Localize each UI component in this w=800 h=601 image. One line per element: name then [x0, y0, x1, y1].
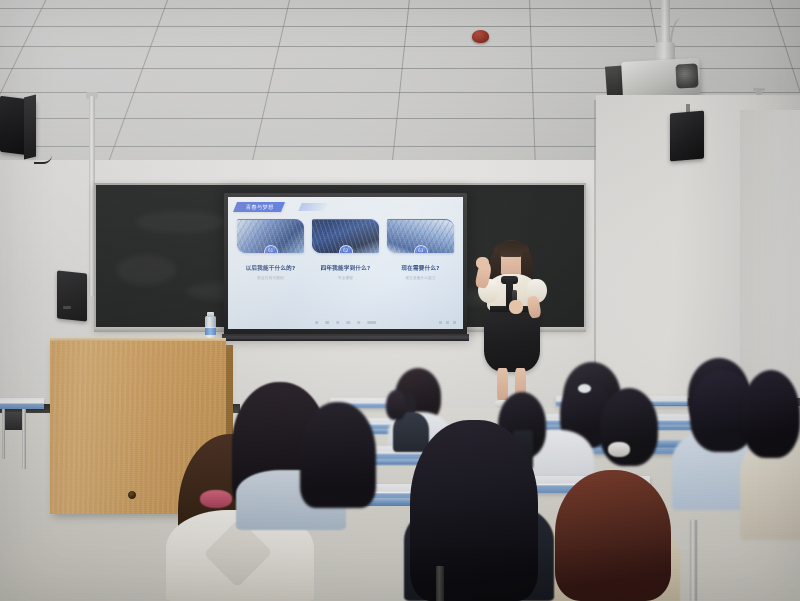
slide-card[interactable]: 03 现在需要什么? 现在准备什么能力 [387, 219, 454, 281]
card-subtitle-3: 现在准备什么能力 [387, 276, 454, 281]
side-desk-leg-1 [22, 409, 26, 469]
toolbar-icon-5[interactable] [357, 321, 361, 325]
wall-speaker-right [670, 111, 704, 162]
student-hair-scrunchie-pink [200, 490, 232, 508]
toolbar-right-icon-3[interactable] [453, 321, 456, 325]
projector-pole [661, 0, 670, 46]
bottle-label [205, 328, 216, 335]
card-subtitle-1: 职业方向与规划 [237, 276, 304, 281]
student-center-right-hair2 [410, 420, 538, 601]
presenter-hand-left [476, 257, 489, 269]
toolbar-right-icon-2[interactable] [446, 321, 449, 325]
side-desk-leg-2 [2, 409, 5, 459]
student-far-right-hair [742, 370, 800, 458]
speaker-cable [34, 146, 52, 164]
bottle-cap [207, 312, 214, 317]
fire-detector-icon [472, 30, 489, 43]
toolbar-icon-2[interactable] [325, 321, 329, 325]
slide-header-text: 青春与梦想 [246, 204, 274, 211]
student-center-right-hair [600, 388, 658, 466]
card-heading-3: 现在需要什么? [387, 264, 454, 272]
slide-header: 青春与梦想 [233, 202, 285, 212]
toolbar-icon-wide[interactable] [367, 321, 376, 325]
speaker-led-icon [63, 306, 71, 309]
slide-card[interactable]: 02 四年我能学到什么? 专业课程 [312, 219, 379, 281]
presentation-display[interactable]: 青春与梦想 01 以后我能干什么的? 职业方向与规划 02 四年我能学到什么? … [228, 197, 463, 329]
card-image-1: 01 [237, 219, 304, 253]
card-heading-2: 四年我能学到什么? [312, 264, 379, 272]
card-image-2: 02 [312, 219, 379, 253]
card-badge-2: 02 [339, 245, 353, 253]
toolbar-icon-4[interactable] [346, 321, 350, 325]
slide-toolbar-right[interactable] [439, 321, 456, 325]
student-hair-bow [608, 442, 630, 457]
display-stand [222, 334, 469, 341]
student-hair-clip-white [578, 384, 591, 393]
projector-lens-icon [675, 63, 698, 88]
student-back-small-hair [386, 390, 406, 420]
slide-cards: 01 以后我能干什么的? 职业方向与规划 02 四年我能学到什么? 专业课程 0… [237, 219, 454, 281]
student-center-front-hair [555, 470, 671, 601]
slide-card[interactable]: 01 以后我能干什么的? 职业方向与规划 [237, 219, 304, 281]
slide-title-accent [298, 203, 327, 211]
card-badge-3: 03 [414, 245, 428, 253]
side-desk-top [0, 398, 44, 409]
presenter-hand-right [509, 300, 523, 314]
bench-leg-front [436, 566, 444, 601]
card-subtitle-2: 专业课程 [312, 276, 379, 281]
student-row3-left-hair [300, 402, 376, 508]
card-image-3: 03 [387, 219, 454, 253]
slide-toolbar[interactable] [315, 321, 377, 325]
bench-leg-right [690, 520, 697, 601]
card-badge-1: 01 [264, 245, 278, 253]
classroom-photo: 青春与梦想 01 以后我能干什么的? 职业方向与规划 02 四年我能学到什么? … [0, 0, 800, 601]
wall-speaker-podium [57, 270, 87, 321]
toolbar-icon-3[interactable] [336, 321, 340, 325]
presenter-skirt [484, 310, 540, 372]
side-desk-box [2, 412, 24, 430]
toolbar-right-icon-1[interactable] [439, 321, 442, 325]
card-heading-1: 以后我能干什么的? [237, 264, 304, 272]
toolbar-icon-1[interactable] [315, 321, 319, 325]
podium-cable-hole [128, 491, 136, 499]
